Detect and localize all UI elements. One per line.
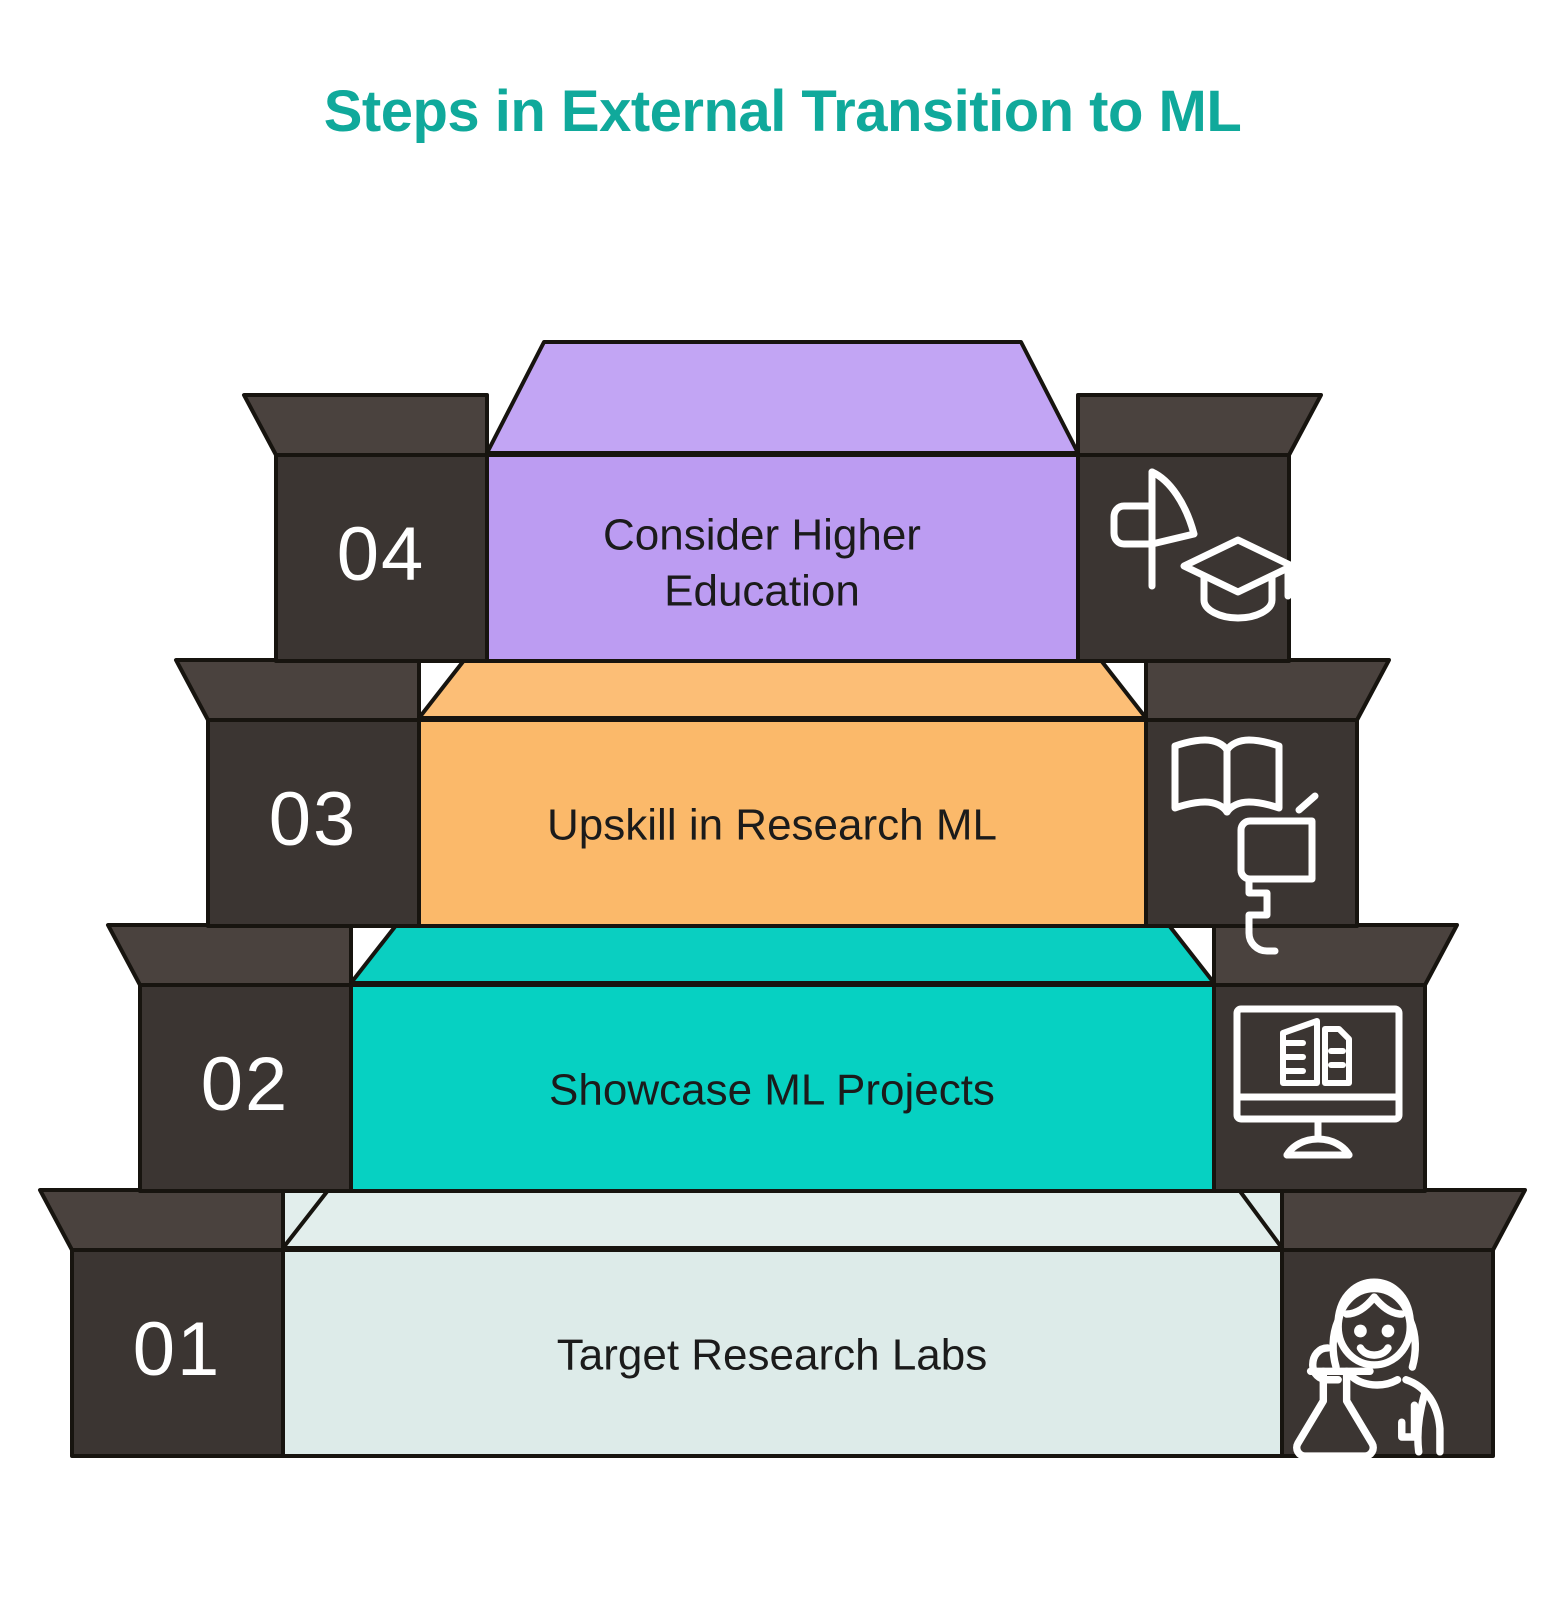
step-04-right-panel-front	[1078, 455, 1289, 661]
staircase-diagram: 01 Target Research Labs	[0, 0, 1565, 1600]
infographic-root: Steps in External Transition to ML 01 Ta…	[0, 0, 1565, 1600]
step-02-left-panel-top	[108, 925, 351, 985]
step-03-left-panel-top	[176, 660, 419, 720]
step-03-number: 03	[269, 777, 358, 862]
step-02-number: 02	[201, 1042, 290, 1127]
step-01-number: 01	[133, 1307, 222, 1392]
step-04-label-line2: Education	[664, 567, 860, 616]
step-01-right-panel-top	[1282, 1190, 1525, 1250]
step-02-group[interactable]: 02 Showcase ML Projects	[108, 910, 1457, 1191]
step-04-number: 04	[337, 512, 426, 597]
step-03-right-panel-top	[1146, 660, 1389, 720]
step-02-right-panel-front	[1214, 985, 1425, 1191]
step-03-label: Upskill in Research ML	[547, 801, 997, 850]
step-03-group[interactable]: 03 Upskill in Research ML	[176, 645, 1389, 951]
step-04-right-panel-top	[1078, 395, 1321, 455]
step-04-left-panel-top	[244, 395, 487, 455]
step-01-left-panel-top	[40, 1190, 283, 1250]
step-01-group[interactable]: 01 Target Research Labs	[40, 1175, 1525, 1456]
step-04-label-line1: Consider Higher	[603, 511, 921, 560]
step-02-label: Showcase ML Projects	[549, 1066, 995, 1115]
step-04-group[interactable]: 04 Consider Higher Education	[244, 342, 1321, 661]
step-01-label: Target Research Labs	[557, 1331, 987, 1380]
step-04-top-face	[487, 342, 1078, 453]
